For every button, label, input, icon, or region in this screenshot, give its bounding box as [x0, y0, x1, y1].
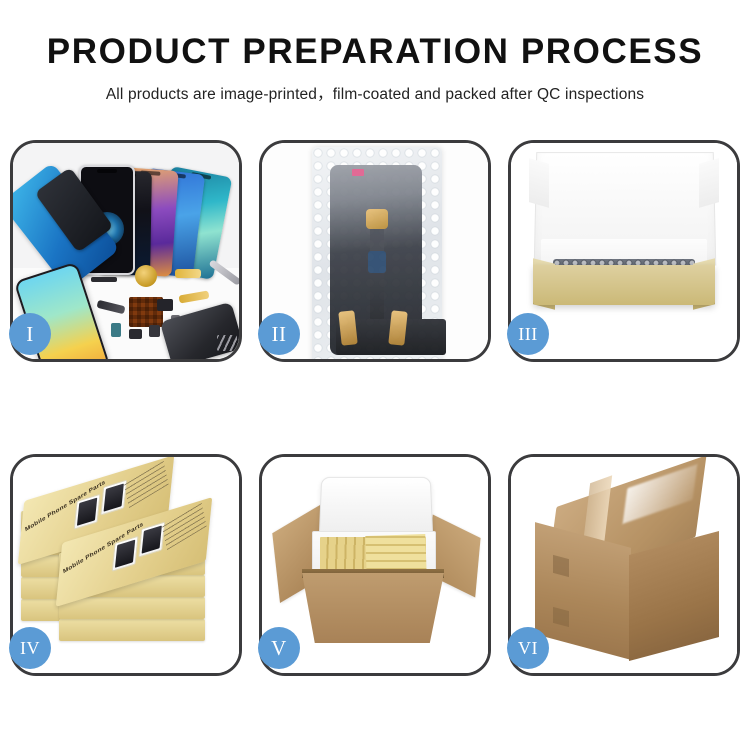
foam-lid	[319, 477, 434, 539]
process-step-6[interactable]: VI	[508, 454, 740, 676]
tweezers-tool	[208, 259, 239, 286]
small-component-part	[129, 329, 142, 339]
page-header: PRODUCT PREPARATION PROCESS All products…	[0, 0, 750, 104]
retail-box-stack: Mobile Phone Spare Parts Mobile Phone Sp…	[19, 475, 233, 665]
earpiece-part	[91, 277, 117, 282]
process-step-1[interactable]: I	[10, 140, 242, 362]
label-sticker	[352, 169, 364, 176]
step-badge-4: IV	[9, 627, 51, 669]
lid-flap-right	[699, 158, 719, 208]
kraft-tray-front	[533, 265, 715, 305]
notch-icon	[97, 169, 117, 173]
lcd-screen-assembly	[330, 165, 422, 355]
process-steps-grid: I II	[0, 140, 750, 676]
flex-cable-part	[175, 269, 201, 278]
lid-flap-left	[529, 158, 549, 208]
process-row-top: I II	[0, 140, 750, 362]
sealed-carton	[529, 483, 723, 651]
small-component-part	[111, 323, 121, 337]
step-badge-1: I	[9, 313, 51, 355]
process-step-3[interactable]: III	[508, 140, 740, 362]
screws-part	[217, 335, 237, 351]
flex-cable-part	[96, 300, 125, 315]
step-badge-3: III	[507, 313, 549, 355]
bubble-wrap-bag	[312, 147, 442, 359]
process-step-2[interactable]: II	[259, 140, 491, 362]
page-subtitle: All products are image-printed，film-coat…	[0, 82, 750, 104]
connector-left	[338, 310, 357, 345]
camera-module-part	[157, 299, 173, 311]
retail-box	[59, 619, 205, 641]
retail-box	[59, 597, 205, 619]
carton-front-wall	[302, 573, 444, 643]
step-badge-5: V	[258, 627, 300, 669]
small-component-part	[149, 325, 160, 337]
step-badge-2: II	[258, 313, 300, 355]
speaker-part	[135, 265, 157, 287]
flex-cable-part	[179, 290, 210, 303]
page-title: PRODUCT PREPARATION PROCESS	[0, 32, 750, 72]
carton-right-face	[629, 531, 719, 661]
process-row-bottom: Mobile Phone Spare Parts Mobile Phone Sp…	[0, 454, 750, 676]
process-step-5[interactable]: V	[259, 454, 491, 676]
process-step-4[interactable]: Mobile Phone Spare Parts Mobile Phone Sp…	[10, 454, 242, 676]
spare-parts-group	[91, 263, 239, 359]
step-badge-6: VI	[507, 627, 549, 669]
